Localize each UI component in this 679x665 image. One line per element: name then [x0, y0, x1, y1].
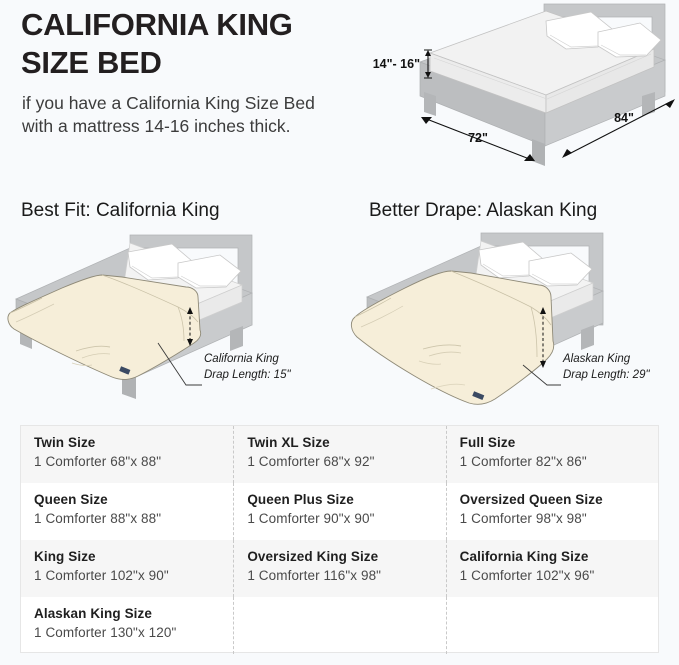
size-spec: 1 Comforter 68"x 88" [34, 452, 233, 472]
table-cell-alaskan-king: Alaskan King Size 1 Comforter 130"x 120" [21, 597, 233, 654]
size-spec: 1 Comforter 82"x 86" [460, 452, 658, 472]
size-name: Queen Plus Size [247, 492, 445, 509]
table-row: King Size 1 Comforter 102"x 90" Oversize… [21, 540, 658, 597]
table-cell-oversized-queen: Oversized Queen Size 1 Comforter 98"x 98… [446, 483, 658, 540]
callout-left-line1: California King [204, 353, 279, 365]
header-section: CALIFORNIA KING SIZE BED if you have a C… [0, 0, 679, 185]
size-spec: 1 Comforter 98"x 98" [460, 509, 658, 529]
table-row: Queen Size 1 Comforter 88"x 88" Queen Pl… [21, 483, 658, 540]
callout-right-line1: Alaskan King [562, 353, 631, 365]
size-name: Oversized King Size [247, 549, 445, 566]
page-title: CALIFORNIA KING SIZE BED [21, 6, 351, 82]
size-name: Full Size [460, 435, 658, 452]
size-name: Twin Size [34, 435, 233, 452]
size-name: Queen Size [34, 492, 233, 509]
page-subtitle: if you have a California King Size Bed w… [22, 92, 342, 139]
table-cell-queen-plus: Queen Plus Size 1 Comforter 90"x 90" [233, 483, 445, 540]
size-name: California King Size [460, 549, 658, 566]
table-cell-oversized-king: Oversized King Size 1 Comforter 116"x 98… [233, 540, 445, 597]
size-name: Oversized Queen Size [460, 492, 658, 509]
size-spec: 1 Comforter 102"x 90" [34, 566, 233, 586]
table-cell-twin-xl: Twin XL Size 1 Comforter 68"x 92" [233, 426, 445, 483]
table-row: Twin Size 1 Comforter 68"x 88" Twin XL S… [21, 426, 658, 483]
table-row: Alaskan King Size 1 Comforter 130"x 120" [21, 597, 658, 654]
size-name: King Size [34, 549, 233, 566]
alaskan-king-bed-diagram: Alaskan King Drap Length: 29" [345, 225, 679, 410]
table-cell-queen: Queen Size 1 Comforter 88"x 88" [21, 483, 233, 540]
dimension-width-label: 72" [468, 131, 488, 145]
callout-right-line2: Drap Length: 29" [563, 369, 650, 381]
comforter-size-table: Twin Size 1 Comforter 68"x 88" Twin XL S… [20, 425, 659, 653]
hero-bed-diagram: 14"- 16" 72" 84" [350, 0, 679, 180]
callout-left-line2: Drap Length: 15" [204, 369, 291, 381]
dimension-thickness-label: 14"- 16" [373, 57, 420, 71]
size-spec: 1 Comforter 88"x 88" [34, 509, 233, 529]
dimension-length-label: 84" [614, 111, 634, 125]
section-heading-better-drape: Better Drape: Alaskan King [369, 201, 597, 220]
table-cell-full: Full Size 1 Comforter 82"x 86" [446, 426, 658, 483]
table-cell-california-king: California King Size 1 Comforter 102"x 9… [446, 540, 658, 597]
size-name: Twin XL Size [247, 435, 445, 452]
table-cell-empty [233, 597, 445, 654]
table-cell-empty [446, 597, 658, 654]
section-heading-best-fit: Best Fit: California King [21, 201, 220, 220]
size-spec: 1 Comforter 90"x 90" [247, 509, 445, 529]
table-cell-king: King Size 1 Comforter 102"x 90" [21, 540, 233, 597]
size-spec: 1 Comforter 130"x 120" [34, 623, 233, 643]
size-spec: 1 Comforter 102"x 96" [460, 566, 658, 586]
size-spec: 1 Comforter 116"x 98" [247, 566, 445, 586]
table-cell-twin: Twin Size 1 Comforter 68"x 88" [21, 426, 233, 483]
size-name: Alaskan King Size [34, 606, 233, 623]
size-spec: 1 Comforter 68"x 92" [247, 452, 445, 472]
california-king-bed-diagram: California King Drap Length: 15" [2, 225, 332, 410]
comparison-section: Best Fit: California King Better Drape: … [0, 185, 679, 413]
